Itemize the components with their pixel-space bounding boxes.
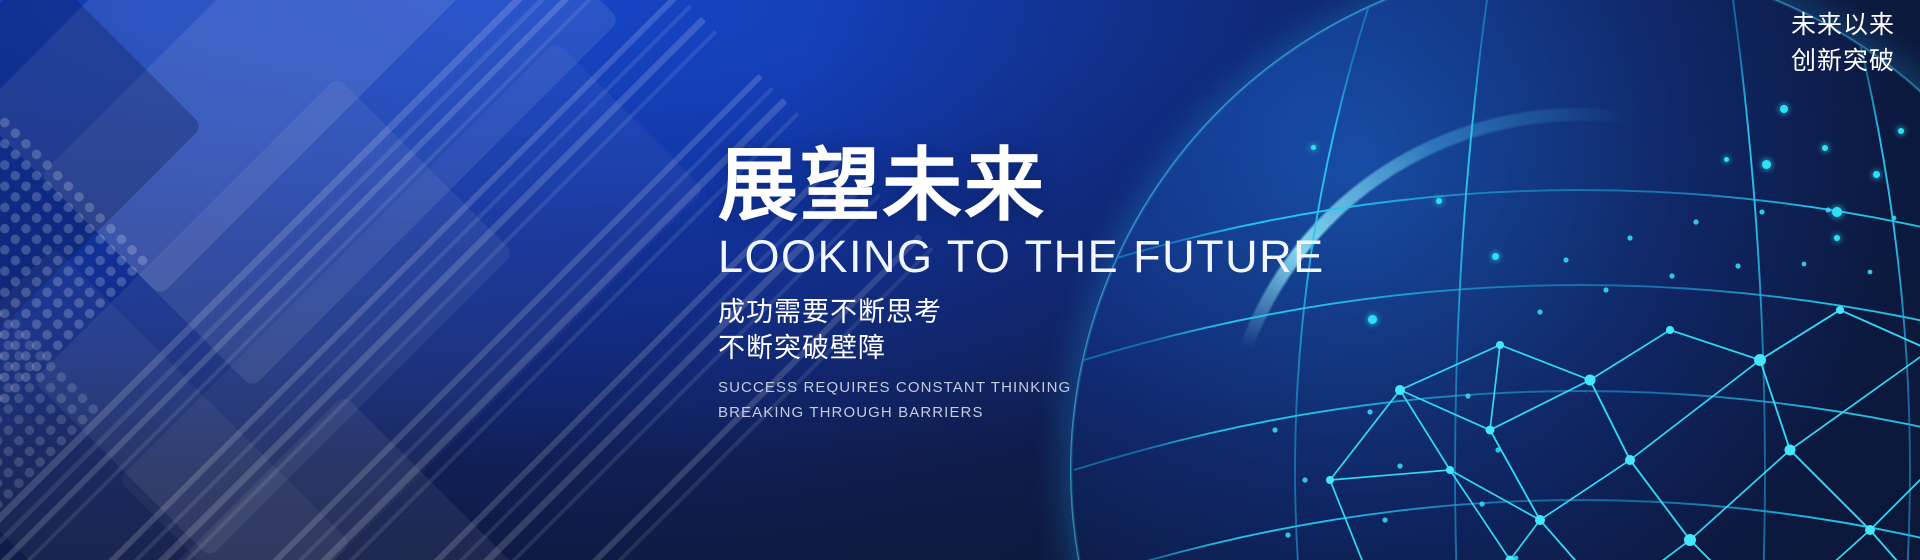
tagline-en-line2: BREAKING THROUGH BARRIERS xyxy=(718,401,1478,425)
page-title: 展望未来 xyxy=(718,146,1478,226)
tagline-cn-line1: 成功需要不断思考 xyxy=(718,295,1478,331)
corner-tagline: 未来以来 创新突破 xyxy=(1791,8,1895,79)
tagline-cn-line2: 不断突破壁障 xyxy=(718,331,1478,367)
hero-copy: 展望未来 LOOKING TO THE FUTURE 成功需要不断思考 不断突破… xyxy=(718,146,1478,425)
tagline-en: SUCCESS REQUIRES CONSTANT THINKING BREAK… xyxy=(718,376,1478,425)
tagline-en-line1: SUCCESS REQUIRES CONSTANT THINKING xyxy=(718,376,1478,400)
corner-tagline-line2: 创新突破 xyxy=(1791,44,1895,80)
page-subtitle: LOOKING TO THE FUTURE xyxy=(718,234,1478,279)
hero-banner: 未来以来 创新突破 展望未来 LOOKING TO THE FUTURE 成功需… xyxy=(0,0,1920,560)
corner-tagline-line1: 未来以来 xyxy=(1791,8,1895,44)
